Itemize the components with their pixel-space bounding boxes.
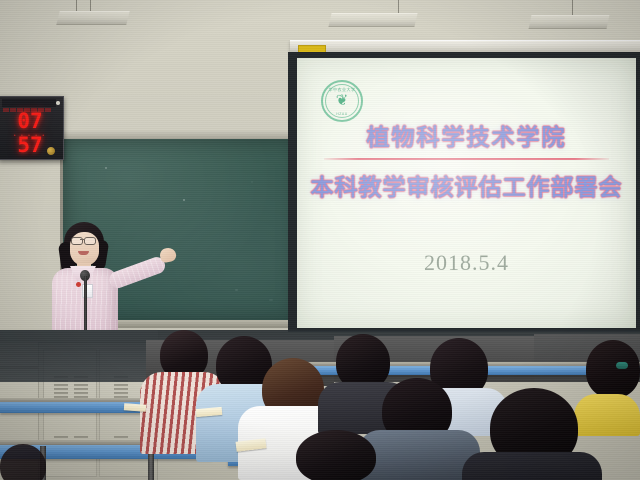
torso	[462, 452, 602, 480]
podium-microphone-stand	[84, 276, 87, 334]
projection-screen: 华中农业大学 ❦ HZAU 植物科学技术学院 本科教学审核评估工作部署会 201…	[297, 58, 636, 328]
glasses-right-lens	[84, 237, 96, 245]
clock-knob[interactable]	[47, 147, 55, 155]
lamp-rod-1b	[90, 0, 91, 11]
clock-time-digits: 07 57	[1, 109, 59, 133]
head	[586, 340, 640, 398]
slide-title: 植物科学技术学院	[297, 118, 636, 152]
head	[0, 444, 46, 480]
slide-date: 2018.5.4	[297, 250, 636, 276]
lanyard-dot	[76, 282, 81, 287]
emblem-center-glyph: ❦	[336, 93, 349, 108]
presenter-hand	[159, 246, 178, 263]
slide-divider	[324, 158, 609, 160]
clock-subline: • • • • •	[3, 133, 57, 140]
ceiling-lamp-1	[56, 11, 129, 25]
clock-label-strip	[2, 99, 56, 107]
presenter-speaker	[44, 222, 176, 340]
glasses-bridge	[80, 239, 84, 240]
torso	[574, 394, 640, 436]
ceiling-lamp-2	[328, 13, 417, 27]
slide-subtitle: 本科教学审核评估工作部署会	[297, 168, 636, 202]
handout-paper-3	[124, 403, 146, 412]
head	[296, 430, 376, 480]
ceiling-lamp-3	[529, 15, 610, 29]
clock-indicator-led	[56, 101, 60, 105]
lecture-hall-photo: 07 57 • • • • • 华中农业大学 ❦ HZAU 植物科学技术学院 本…	[0, 0, 640, 480]
lamp-rod-3	[572, 0, 573, 16]
hair-clip	[616, 362, 628, 369]
university-emblem-icon: 华中农业大学 ❦ HZAU	[321, 80, 363, 122]
presenter-extended-arm	[107, 255, 167, 291]
lamp-rod-2	[398, 0, 399, 14]
emblem-bottom-arc-text: HZAU	[336, 112, 348, 116]
led-wall-clock: 07 57 • • • • •	[0, 96, 64, 160]
blackboard-top-rail	[60, 130, 302, 139]
